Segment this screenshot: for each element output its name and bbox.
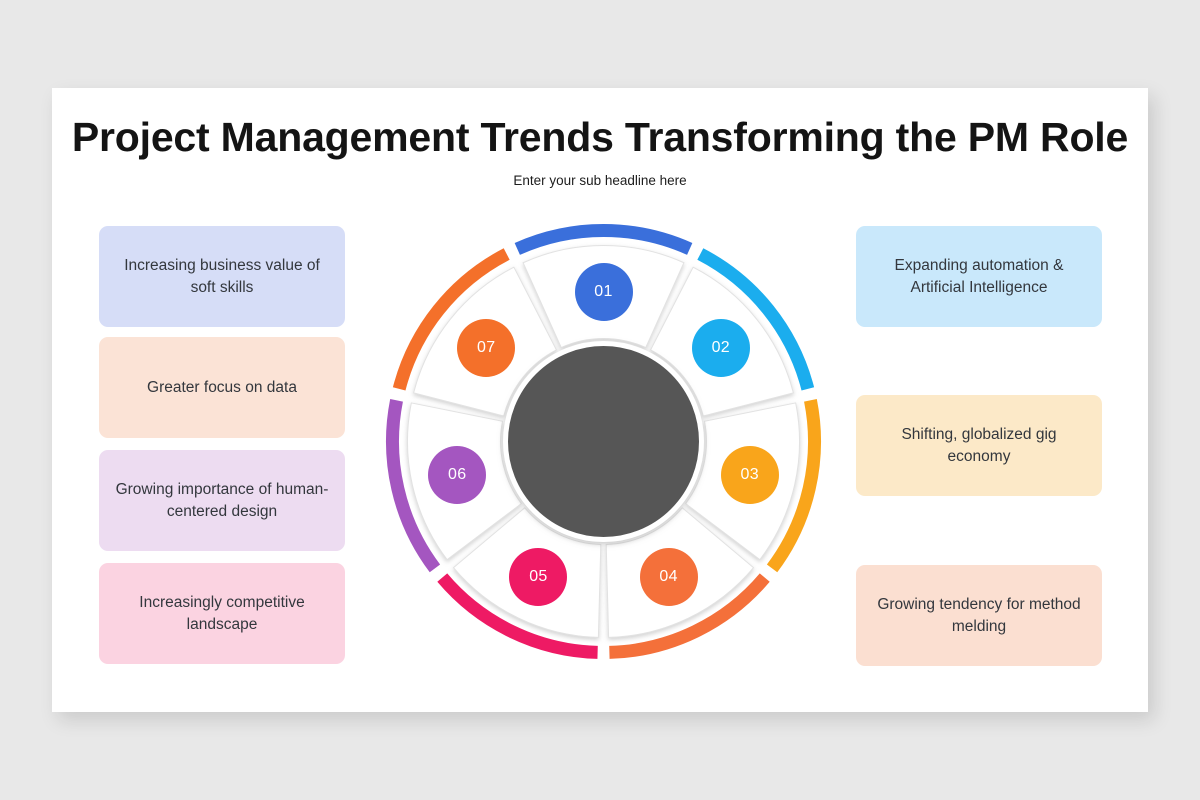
left-card-3[interactable]: Growing importance of human-centered des…	[99, 450, 345, 551]
wheel-number-03[interactable]: 03	[721, 446, 779, 504]
left-card-4[interactable]: Increasingly competitive landscape	[99, 563, 345, 664]
wheel-number-01[interactable]: 01	[575, 263, 633, 321]
left-card-2[interactable]: Greater focus on data	[99, 337, 345, 438]
right-card-2-label: Shifting, globalized gig economy	[870, 424, 1088, 467]
wheel-hub[interactable]	[506, 344, 702, 540]
role-wheel-diagram: 01020304050607	[376, 214, 831, 669]
slide-canvas: Project Management Trends Transforming t…	[52, 88, 1148, 712]
page-subtitle: Enter your sub headline here	[52, 173, 1148, 188]
wheel-number-02[interactable]: 02	[692, 319, 750, 377]
right-card-1-label: Expanding automation & Artificial Intell…	[870, 255, 1088, 298]
wheel-number-05[interactable]: 05	[509, 548, 567, 606]
left-card-2-label: Greater focus on data	[147, 377, 297, 398]
left-card-3-label: Growing importance of human-centered des…	[113, 479, 331, 522]
wheel-number-04[interactable]: 04	[640, 548, 698, 606]
page-title: Project Management Trends Transforming t…	[52, 114, 1148, 161]
wheel-number-07[interactable]: 07	[457, 319, 515, 377]
left-card-4-label: Increasingly competitive landscape	[113, 592, 331, 635]
right-card-3-label: Growing tendency for method melding	[870, 594, 1088, 637]
right-card-3[interactable]: Growing tendency for method melding	[856, 565, 1102, 666]
right-card-2[interactable]: Shifting, globalized gig economy	[856, 395, 1102, 496]
left-card-1-label: Increasing business value of soft skills	[113, 255, 331, 298]
right-card-1[interactable]: Expanding automation & Artificial Intell…	[856, 226, 1102, 327]
wheel-number-06[interactable]: 06	[428, 446, 486, 504]
left-card-1[interactable]: Increasing business value of soft skills	[99, 226, 345, 327]
